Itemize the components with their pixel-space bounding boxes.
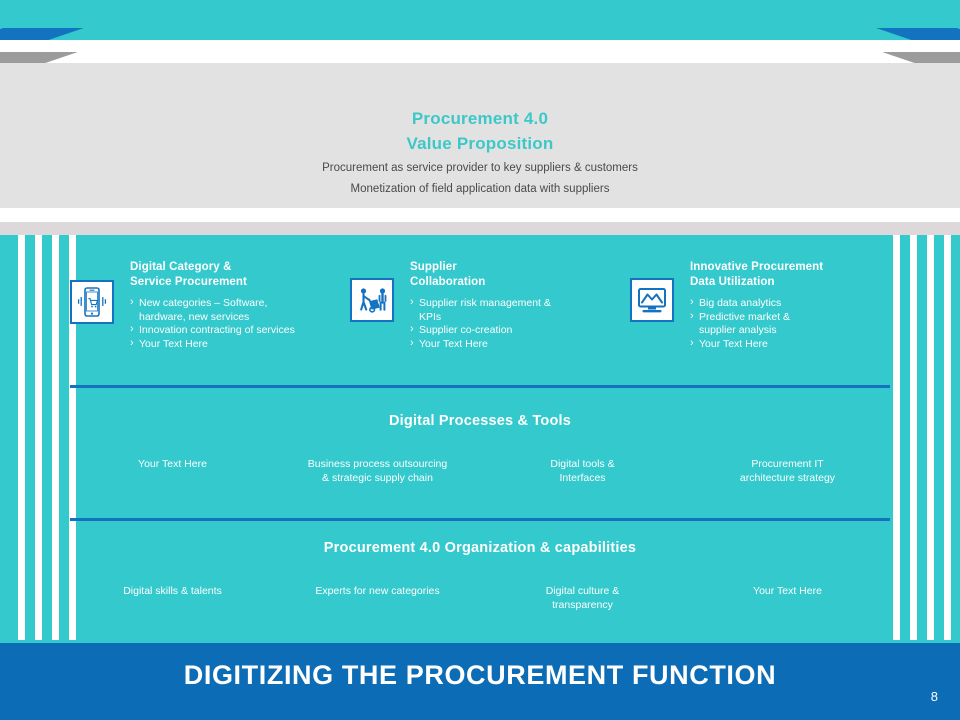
pillar <box>893 235 900 640</box>
roof-base-white-band <box>0 208 960 222</box>
section-title: Digital Processes & Tools <box>70 413 890 429</box>
list-item: Innovation contracting of services <box>130 324 350 338</box>
column-text: Innovative Procurement Data Utilization … <box>690 260 890 351</box>
section-item-row: Your Text Here Business process outsourc… <box>70 457 890 485</box>
pillar <box>910 235 917 640</box>
roof-subtitle-line-1: Procurement as service provider to key s… <box>0 159 960 177</box>
column-data-utilization: Innovative Procurement Data Utilization … <box>630 260 890 351</box>
pillar <box>944 235 951 640</box>
column-text: Supplier Collaboration Supplier risk man… <box>410 260 630 351</box>
section-title: Procurement 4.0 Organization & capabilit… <box>70 540 890 556</box>
column-supplier-collaboration: Supplier Collaboration Supplier risk man… <box>350 260 630 351</box>
monitor-analytics-chart-icon <box>630 278 674 322</box>
list-item: Big data analytics <box>690 297 890 311</box>
list-item: Your Text Here <box>410 338 630 352</box>
column-heading-line-2: Collaboration <box>410 275 630 290</box>
column-digital-category: Digital Category & Service Procurement N… <box>70 260 350 351</box>
section-item: Digital culture & transparency <box>480 584 685 612</box>
list-item: Your Text Here <box>130 338 350 352</box>
section-organization-capabilities: Procurement 4.0 Organization & capabilit… <box>70 540 890 612</box>
column-heading-line-2: Service Procurement <box>130 275 350 290</box>
column-heading-line-1: Supplier <box>410 260 630 275</box>
roof-graphic: Procurement 4.0 Value Proposition Procur… <box>0 0 960 208</box>
supplier-delivery-people-icon <box>350 278 394 322</box>
roof-base-gray-band <box>0 222 960 235</box>
footer-banner: DIGITIZING THE PROCUREMENT FUNCTION 8 <box>0 643 960 720</box>
slide-title: DIGITIZING THE PROCUREMENT FUNCTION <box>0 660 960 691</box>
roof-title-line-2: Value Proposition <box>0 131 960 156</box>
capability-columns: Digital Category & Service Procurement N… <box>70 260 890 351</box>
section-item-row: Digital skills & talents Experts for new… <box>70 584 890 612</box>
temple-body: Digital Category & Service Procurement N… <box>0 235 960 640</box>
column-bullet-list: Supplier risk management & KPIs Supplier… <box>410 297 630 351</box>
section-item: Your Text Here <box>685 584 890 612</box>
pillar <box>52 235 59 640</box>
section-item: Procurement IT architecture strategy <box>685 457 890 485</box>
section-item: Experts for new categories <box>275 584 480 612</box>
section-item: Digital skills & talents <box>70 584 275 612</box>
divider-line-upper <box>70 385 890 388</box>
column-bullet-list: Big data analytics Predictive market & s… <box>690 297 890 351</box>
pillar <box>18 235 25 640</box>
column-heading-line-1: Digital Category & <box>130 260 350 275</box>
pillar <box>35 235 42 640</box>
column-text: Digital Category & Service Procurement N… <box>130 260 350 351</box>
page-number: 8 <box>931 689 938 704</box>
column-heading-line-1: Innovative Procurement <box>690 260 890 275</box>
column-bullet-list: New categories – Software, hardware, new… <box>130 297 350 351</box>
section-item: Business process outsourcing & strategic… <box>275 457 480 485</box>
section-item: Digital tools & Interfaces <box>480 457 685 485</box>
list-item: Your Text Here <box>690 338 890 352</box>
roof-subtitle-line-2: Monetization of field application data w… <box>0 180 960 198</box>
roof-text-block: Procurement 4.0 Value Proposition Procur… <box>0 106 960 198</box>
column-heading-line-2: Data Utilization <box>690 275 890 290</box>
mobile-shopping-cart-icon <box>70 280 114 324</box>
slide-canvas: Procurement 4.0 Value Proposition Procur… <box>0 0 960 720</box>
list-item: Supplier risk management & KPIs <box>410 297 630 324</box>
right-pillar-group <box>893 235 960 640</box>
list-item: Predictive market & supplier analysis <box>690 311 890 338</box>
list-item: Supplier co-creation <box>410 324 630 338</box>
section-digital-processes: Digital Processes & Tools Your Text Here… <box>70 413 890 485</box>
section-item: Your Text Here <box>70 457 275 485</box>
list-item: New categories – Software, hardware, new… <box>130 297 350 324</box>
pillar <box>927 235 934 640</box>
roof-title-line-1: Procurement 4.0 <box>0 106 960 131</box>
divider-line-lower <box>70 518 890 521</box>
